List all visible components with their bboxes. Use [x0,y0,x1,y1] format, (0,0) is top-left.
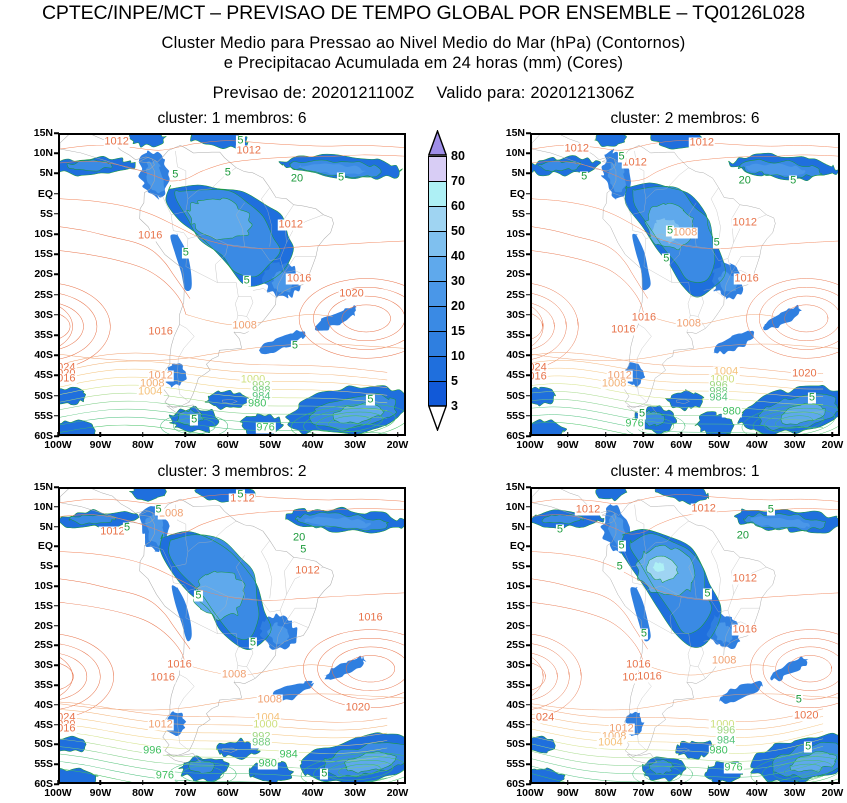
isobar-value-label: 1012 [731,573,757,584]
colorbar-under-arrow-icon [428,405,447,431]
x-axis-tick-mark [100,432,102,437]
y-axis-tick-label: 15S [26,248,53,260]
isobar-value-label: 1008 [672,227,698,238]
forecast-validity-line: Previsao de: 2020121100ZValido para: 202… [0,73,847,103]
y-axis-tick-mark [54,294,59,296]
x-axis-tick-mark [312,432,314,437]
map-panel-cluster-3[interactable]: 1012100810121012101610161016100810081020… [58,487,406,784]
x-axis-tick-mark [354,432,356,437]
precip-value-label: 5 [556,525,564,536]
precip-value-label: 20 [292,532,306,543]
isobar-value-label: 1012 [690,503,716,514]
colorbar-over-arrow-icon [428,130,447,156]
y-axis-tick-mark [54,486,59,488]
forecast-init-label: Previsao de: 2020121100Z [213,84,415,102]
x-axis-tick-label: 40W [746,787,768,799]
y-axis-tick-label: EQ [498,540,525,552]
y-axis-tick-mark [526,565,531,567]
y-axis-tick-label: 50S [498,390,525,402]
panel-title-cluster-3: cluster: 3 membros: 2 [58,463,406,481]
y-axis-tick-label: 55S [26,758,53,770]
precip-value-label: 5 [182,247,190,258]
y-axis-tick-mark [526,625,531,627]
x-axis-tick-mark [57,780,59,785]
isobar-value-label: 1016 [636,671,662,682]
x-axis-tick-mark [605,780,607,785]
isobar-value-label: 976 [255,423,275,434]
colorbar-tick-label: 10 [451,349,465,363]
precip-value-label: 5 [236,489,244,500]
colorbar-band [429,281,446,306]
isobar-value-label: 996 [142,745,162,756]
x-axis-tick-label: 100W [44,439,71,451]
isobar-value-label: 1008 [257,694,283,705]
isobar-value-label: 1004 [137,387,163,398]
y-axis-tick-mark [526,354,531,356]
y-axis-tick-label: 20S [26,620,53,632]
precip-value-label: 5 [662,253,670,264]
y-axis-tick-label: 35S [498,329,525,341]
y-axis-tick-label: 5N [498,521,525,533]
x-axis-tick-label: 40W [302,787,324,799]
isobar-value-label: 1012 [99,526,125,537]
y-axis-tick-mark [526,314,531,316]
y-axis-tick-mark [54,274,59,276]
map-panel-cluster-2[interactable]: 1012101210121012100810161016101610081020… [530,133,840,436]
y-axis-tick-label: 25S [498,639,525,651]
colorbar-band [429,231,446,256]
x-axis-tick-label: 50W [708,787,730,799]
isobar-value-label: 1016 [286,273,312,284]
y-axis-tick-label: 30S [498,659,525,671]
colorbar-tick-label: 50 [451,224,465,238]
x-axis-tick-mark [312,780,314,785]
x-axis-tick-label: 90W [557,439,579,451]
y-axis-tick-label: 55S [498,758,525,770]
y-axis-tick-mark [54,152,59,154]
x-axis-tick-mark [185,780,187,785]
page-title: CPTEC/INPE/MCT – PREVISAO DE TEMPO GLOBA… [0,0,847,24]
y-axis-tick-label: 15S [498,600,525,612]
colorbar-band [429,331,446,356]
x-axis-tick-mark [794,432,796,437]
y-axis-tick-mark [526,395,531,397]
x-axis-tick-mark [185,432,187,437]
x-axis-tick-mark [142,780,144,785]
y-axis-tick-label: 10N [498,501,525,513]
y-axis-tick-label: 5N [26,167,53,179]
x-axis-tick-label: 80W [132,439,154,451]
colorbar-band [429,206,446,231]
colorbar-tick-label: 3 [451,399,458,413]
precip-value-label: 5 [236,135,244,146]
y-axis-tick-mark [526,546,531,548]
y-axis-tick-label: 10S [498,580,525,592]
y-axis-tick-label: 25S [26,639,53,651]
y-axis-tick-mark [526,704,531,706]
y-axis-tick-label: 35S [26,679,53,691]
y-axis-tick-label: 10S [26,580,53,592]
y-axis-tick-label: 5N [26,521,53,533]
precip-value-label: 5 [703,589,711,600]
precip-value-label: 5 [366,395,374,406]
y-axis-tick-label: 15S [498,248,525,260]
y-axis-tick-mark [526,506,531,508]
isobar-value-label: 1012 [731,217,757,228]
isobar-value-label: 1016 [733,273,759,284]
isobar-value-label: 984 [278,749,298,760]
isobar-value-label: 1012 [689,137,715,148]
x-axis-tick-mark [643,432,645,437]
precip-value-label: 5 [808,393,816,404]
x-axis-tick-label: 90W [90,439,112,451]
x-axis-tick-label: 80W [132,787,154,799]
colorbar-band [429,356,446,381]
y-axis-tick-label: 5S [26,208,53,220]
y-axis-tick-mark [526,744,531,746]
y-axis-tick-label: 30S [26,659,53,671]
x-axis-tick-mark [680,780,682,785]
x-axis-tick-label: 30W [344,439,366,451]
isobar-value-label: 1012 [147,720,173,731]
y-axis-tick-label: 15N [498,127,525,139]
y-axis-tick-mark [54,132,59,134]
y-axis-tick-mark [526,645,531,647]
x-axis-tick-label: 100W [516,439,543,451]
precip-value-label: 20 [736,530,750,541]
y-axis-tick-mark [526,585,531,587]
x-axis-tick-label: 20W [822,439,844,451]
y-axis-tick-mark [54,193,59,195]
precip-value-label: 5 [789,175,797,186]
x-axis-tick-label: 40W [746,439,768,451]
forecast-valid-label: Valido para: 2020121306Z [436,84,634,102]
precip-value-label: 5 [638,409,646,420]
x-axis-tick-label: 100W [44,787,71,799]
y-axis-tick-label: EQ [26,540,53,552]
y-axis-tick-label: 50S [26,738,53,750]
y-axis-tick-label: 45S [26,719,53,731]
y-axis-tick-label: 35S [498,679,525,691]
panel-title-cluster-2: cluster: 2 membros: 6 [530,110,840,128]
precip-value-label: 5 [171,169,179,180]
y-axis-tick-label: 5S [498,208,525,220]
isobar-value-label: 1020 [345,702,371,713]
precip-value-label: 5 [617,151,625,162]
y-axis-tick-label: 45S [498,719,525,731]
precip-value-label: 5 [249,638,257,649]
precip-value-label: 5 [190,415,198,426]
y-axis-tick-label: 5N [498,167,525,179]
map-panel-cluster-1[interactable]: 1012101210121016101610201016100810001012… [58,133,406,436]
x-axis-tick-mark [354,780,356,785]
colorbar-band [429,306,446,331]
x-axis-tick-label: 50W [259,439,281,451]
x-axis-tick-mark [567,780,569,785]
x-axis-tick-mark [680,432,682,437]
x-axis-tick-label: 20W [822,787,844,799]
y-axis-tick-label: 45S [498,369,525,381]
x-axis-tick-mark [397,780,399,785]
isobar-value-label: 1004 [597,737,623,748]
y-axis-tick-label: 10N [498,147,525,159]
y-axis-tick-mark [54,395,59,397]
y-axis-tick-label: 20S [498,620,525,632]
precip-value-label: 5 [337,173,345,184]
precip-value-label: 5 [616,562,624,573]
isobar-value-label: 1012 [277,219,303,230]
y-axis-tick-label: 10S [498,228,525,240]
x-axis-tick-label: 70W [633,787,655,799]
panel-title-cluster-4: cluster: 4 membros: 1 [530,463,840,481]
colorbar-legend: 80706050403020151053 [418,128,488,440]
precip-value-label: 5 [666,225,674,236]
y-axis-tick-label: 15N [26,481,53,493]
x-axis-tick-label: 50W [708,439,730,451]
precip-value-label: 20 [290,173,304,184]
isobar-value-label: 016 [530,372,548,383]
precip-value-label: 5 [224,167,232,178]
y-axis-tick-mark [526,684,531,686]
isobar-value-label: 976 [723,763,743,774]
y-axis-tick-label: 40S [498,349,525,361]
colorbar-tick-label: 80 [451,149,465,163]
y-axis-tick-mark [526,526,531,528]
precip-value-label: 5 [243,275,251,286]
x-axis-tick-mark [756,780,758,785]
precip-value-label: 5 [617,540,625,551]
x-axis-tick-mark [832,780,834,785]
x-axis-tick-mark [529,780,531,785]
header-block: CPTEC/INPE/MCT – PREVISAO DE TEMPO GLOBA… [0,0,847,103]
precip-value-label: 5 [299,544,307,555]
isobar-value-label: 976 [624,419,644,430]
precip-value-label: 5 [320,769,328,780]
x-axis-tick-label: 70W [175,439,197,451]
isobar-value-label: 1008 [221,669,247,680]
x-axis-tick-mark [718,432,720,437]
y-axis-tick-mark [54,763,59,765]
y-axis-tick-label: 40S [26,699,53,711]
y-axis-tick-mark [54,645,59,647]
y-axis-tick-mark [54,724,59,726]
isobar-value-label: 984 [708,393,728,404]
y-axis-tick-mark [526,152,531,154]
x-axis-tick-label: 90W [557,787,579,799]
map-canvas-cluster-4: 1012101210121016100810161020101610200241… [532,489,838,782]
x-axis-tick-label: 20W [387,439,409,451]
x-axis-tick-mark [832,432,834,437]
x-axis-tick-label: 70W [633,439,655,451]
map-canvas-cluster-3: 1012100810121012101610161016100810081020… [60,489,404,782]
isobar-value-label: 1012 [294,566,320,577]
x-axis-tick-mark [227,780,229,785]
y-axis-tick-mark [526,253,531,255]
x-axis-tick-label: 40W [302,439,324,451]
isobar-value-label: 1020 [338,289,364,300]
y-axis-tick-mark [54,213,59,215]
y-axis-tick-label: 20S [26,268,53,280]
y-axis-tick-label: 50S [498,738,525,750]
y-axis-tick-mark [54,314,59,316]
x-axis-tick-label: 70W [175,787,197,799]
y-axis-tick-mark [526,294,531,296]
precip-value-label: 5 [194,591,202,602]
y-axis-tick-label: 15S [26,600,53,612]
x-axis-tick-label: 60W [217,787,239,799]
y-axis-tick-mark [526,605,531,607]
y-axis-tick-label: 50S [26,390,53,402]
y-axis-tick-label: 5S [26,560,53,572]
x-axis-tick-label: 60W [670,787,692,799]
isobar-value-label: 016 [58,724,76,735]
colorbar-band [429,381,446,406]
subtitle-contours: Cluster Medio para Pressao ao Nivel Medi… [0,24,847,53]
x-axis-tick-label: 80W [595,787,617,799]
isobar-value-label: 1012 [564,143,590,154]
y-axis-tick-mark [54,375,59,377]
y-axis-tick-label: 30S [498,309,525,321]
x-axis-tick-label: 60W [217,439,239,451]
y-axis-tick-mark [526,415,531,417]
y-axis-tick-label: 45S [26,369,53,381]
y-axis-tick-label: 10S [26,228,53,240]
y-axis-tick-mark [54,526,59,528]
isobar-value-label: 016 [58,374,76,385]
isobar-value-label: 1008 [601,379,627,390]
y-axis-tick-mark [54,233,59,235]
precip-value-label: 5 [155,505,163,516]
isobar-value-label: 1000 [252,720,278,731]
y-axis-tick-mark [54,605,59,607]
isobar-value-label: 1012 [575,505,601,516]
x-axis-tick-mark [100,780,102,785]
y-axis-tick-mark [526,334,531,336]
colorbar-band [429,181,446,206]
isobar-value-label: 1016 [610,325,636,336]
isobar-value-label: 1016 [147,327,173,338]
precip-value-label: 5 [713,237,721,248]
panel-title-cluster-1: cluster: 1 membros: 6 [58,110,406,128]
y-axis-tick-label: 15N [498,481,525,493]
precip-value-label: 5 [795,694,803,705]
x-axis-tick-mark [643,780,645,785]
x-axis-tick-mark [529,432,531,437]
x-axis-tick-mark [269,432,271,437]
y-axis-tick-mark [54,565,59,567]
isobar-value-label: 1016 [625,659,651,670]
y-axis-tick-mark [526,193,531,195]
y-axis-tick-mark [526,724,531,726]
isobar-value-label: 1020 [791,369,817,380]
y-axis-tick-mark [54,173,59,175]
colorbar-tick-label: 30 [451,274,465,288]
y-axis-tick-mark [526,132,531,134]
y-axis-tick-mark [54,506,59,508]
y-axis-tick-label: 40S [26,349,53,361]
colorbar-tick-label: 70 [451,174,465,188]
y-axis-tick-label: 5S [498,560,525,572]
x-axis-tick-mark [57,432,59,437]
y-axis-tick-mark [526,664,531,666]
isobar-value-label: 976 [155,771,175,782]
y-axis-tick-mark [54,704,59,706]
y-axis-tick-mark [54,334,59,336]
isobar-value-label: 1020 [793,710,819,721]
x-axis-tick-mark [794,780,796,785]
y-axis-tick-mark [54,684,59,686]
colorbar-tick-label: 40 [451,249,465,263]
y-axis-tick-label: 25S [498,289,525,301]
x-axis-tick-label: 30W [784,787,806,799]
precip-value-label: 5 [640,628,648,639]
x-axis-tick-mark [269,780,271,785]
x-axis-tick-mark [756,432,758,437]
y-axis-tick-mark [526,486,531,488]
map-plot-4 [532,489,838,782]
x-axis-tick-label: 30W [784,439,806,451]
y-axis-tick-label: 40S [498,699,525,711]
isobar-value-label: 024 [535,712,555,723]
map-plot-1 [60,135,404,434]
isobar-value-label: 1012 [236,145,262,156]
isobar-value-label: 1016 [731,624,757,635]
y-axis-tick-label: 15N [26,127,53,139]
y-axis-tick-label: 35S [26,329,53,341]
colorbar-tick-label: 60 [451,199,465,213]
x-axis-tick-mark [605,432,607,437]
y-axis-tick-label: EQ [26,188,53,200]
subtitle-colors: e Precipitacao Acumulada em 24 horas (mm… [0,53,847,73]
isobar-value-label: 980 [247,399,267,410]
colorbar-tick-label: 5 [451,374,458,388]
y-axis-tick-mark [54,253,59,255]
y-axis-tick-label: 20S [498,268,525,280]
x-axis-tick-mark [142,432,144,437]
x-axis-tick-label: 30W [344,787,366,799]
x-axis-tick-mark [567,432,569,437]
y-axis-tick-label: 30S [26,309,53,321]
y-axis-tick-label: 55S [26,410,53,422]
y-axis-tick-mark [54,625,59,627]
x-axis-tick-label: 100W [516,787,543,799]
y-axis-tick-mark [54,664,59,666]
map-panel-cluster-4[interactable]: 1012101210121016100810161020101610200241… [530,487,840,784]
precip-value-label: 5 [291,341,299,352]
y-axis-tick-label: 25S [26,289,53,301]
y-axis-tick-mark [526,233,531,235]
isobar-value-label: 1016 [166,659,192,670]
y-axis-tick-mark [526,213,531,215]
map-canvas-cluster-1: 1012101210121016101610201016100810001012… [60,135,404,434]
x-axis-tick-label: 60W [670,439,692,451]
y-axis-tick-mark [526,375,531,377]
x-axis-tick-label: 90W [90,787,112,799]
y-axis-tick-mark [54,546,59,548]
isobar-value-label: 1016 [137,230,163,241]
x-axis-tick-mark [397,432,399,437]
y-axis-tick-mark [526,173,531,175]
y-axis-tick-label: EQ [498,188,525,200]
y-axis-tick-mark [54,744,59,746]
precip-value-label: 5 [580,171,588,182]
y-axis-tick-mark [54,354,59,356]
y-axis-tick-mark [526,763,531,765]
colorbar-band [429,156,446,181]
isobar-value-label: 980 [257,759,277,770]
y-axis-tick-label: 10N [26,501,53,513]
isobar-value-label: 1008 [711,655,737,666]
